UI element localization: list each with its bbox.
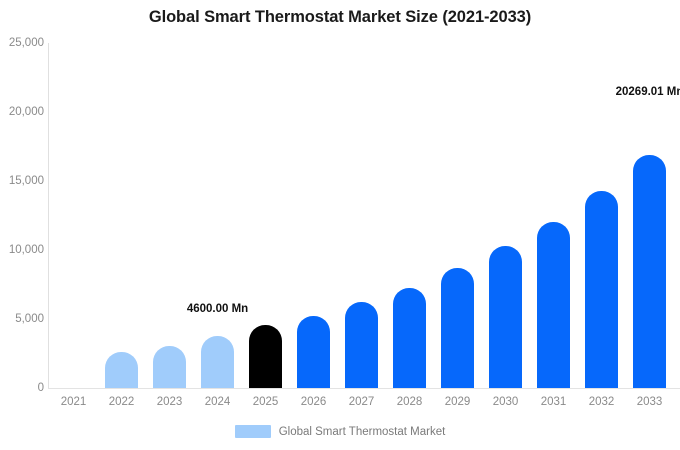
bar-rect[interactable]: [633, 155, 666, 388]
bar-2023[interactable]: [201, 43, 234, 388]
legend-item[interactable]: Global Smart Thermostat Market: [235, 425, 446, 438]
x-axis-tick-label-2022: 2022: [98, 396, 146, 408]
x-axis-tick-label-2033: 2033: [626, 396, 674, 408]
bar-2028[interactable]: [441, 43, 474, 388]
bar-rect[interactable]: [537, 222, 570, 388]
bar-value-label-2024: 4600.00 Mn: [187, 303, 248, 315]
x-axis-tick-label-2023: 2023: [146, 396, 194, 408]
x-axis-tick-label-2026: 2026: [290, 396, 338, 408]
x-axis-tick-label-2021: 2021: [50, 396, 98, 408]
x-axis-tick-label-2024: 2024: [194, 396, 242, 408]
bar-2026[interactable]: [345, 43, 378, 388]
legend-label: Global Smart Thermostat Market: [279, 426, 446, 438]
bar-rect[interactable]: [153, 346, 186, 388]
x-axis: 2021202220232024202520262027202820292030…: [0, 396, 680, 414]
bar-2031[interactable]: [585, 43, 618, 388]
bar-rect[interactable]: [585, 191, 618, 388]
bar-rect[interactable]: [489, 246, 522, 388]
y-axis-tick-label: 20,000: [0, 106, 44, 118]
bar-2029[interactable]: [489, 43, 522, 388]
bar-rect[interactable]: [345, 302, 378, 388]
x-axis-tick-label-2027: 2027: [338, 396, 386, 408]
x-axis-tick-label-2025: 2025: [242, 396, 290, 408]
x-axis-baseline: [48, 388, 680, 389]
bar-2025[interactable]: [297, 43, 330, 388]
bar-chart: Global Smart Thermostat Market Size (202…: [0, 0, 680, 450]
bar-2027[interactable]: [393, 43, 426, 388]
bar-2022[interactable]: [153, 43, 186, 388]
bar-rect[interactable]: [105, 352, 138, 388]
y-axis: 05,00010,00015,00020,00025,000: [0, 0, 44, 450]
bar-rect[interactable]: [441, 268, 474, 388]
bar-rect[interactable]: [201, 336, 234, 388]
y-axis-tick-label: 15,000: [0, 175, 44, 187]
bar-rect[interactable]: [249, 325, 282, 388]
x-axis-tick-label-2028: 2028: [386, 396, 434, 408]
x-axis-tick-label-2031: 2031: [530, 396, 578, 408]
x-axis-tick-label-2029: 2029: [434, 396, 482, 408]
bar-2021[interactable]: [105, 43, 138, 388]
y-axis-tick-label: 0: [0, 382, 44, 394]
y-axis-tick-label: 25,000: [0, 37, 44, 49]
bar-2030[interactable]: [537, 43, 570, 388]
legend-swatch-icon: [235, 425, 271, 438]
x-axis-tick-label-2030: 2030: [482, 396, 530, 408]
plot-area: [48, 43, 680, 388]
y-axis-tick-label: 10,000: [0, 244, 44, 256]
bar-rect[interactable]: [393, 288, 426, 388]
chart-title: Global Smart Thermostat Market Size (202…: [0, 8, 680, 27]
bar-value-label-2033: 20269.01 Mn: [616, 86, 680, 98]
x-axis-tick-label-2032: 2032: [578, 396, 626, 408]
bar-2024[interactable]: [249, 43, 282, 388]
y-axis-tick-label: 5,000: [0, 313, 44, 325]
bar-rect[interactable]: [297, 316, 330, 388]
chart-legend: Global Smart Thermostat Market: [0, 425, 680, 438]
